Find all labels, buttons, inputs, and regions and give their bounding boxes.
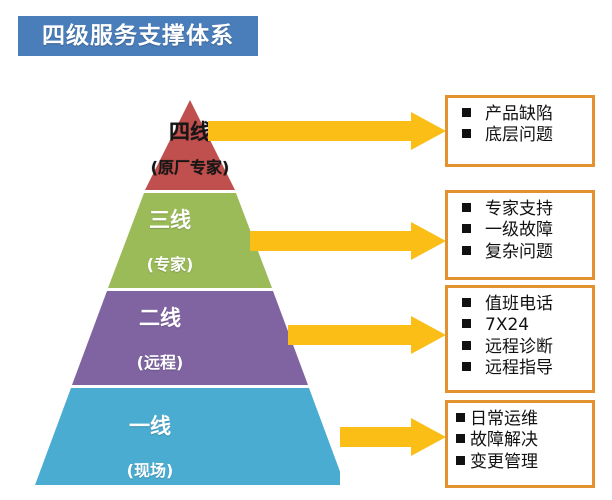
square-bullet-icon xyxy=(462,203,471,212)
arrow-tier-1-to-callout xyxy=(340,418,446,460)
callout-item-text: 产品缺陷 xyxy=(485,104,553,125)
square-bullet-icon xyxy=(462,108,471,117)
callout-box-tier-1[interactable]: 日常运维 故障解决 变更管理 xyxy=(445,400,595,488)
list-item: 值班电话 xyxy=(454,294,588,315)
list-item: 7X24 xyxy=(454,315,588,336)
callout-item-text: 专家支持 xyxy=(485,199,553,220)
callout-list-tier-1: 日常运维 故障解决 变更管理 xyxy=(454,409,588,473)
callout-item-text: 日常运维 xyxy=(470,409,538,430)
list-item: 产品缺陷 xyxy=(454,104,588,125)
pyramid-tier-3-shape[interactable] xyxy=(108,193,272,288)
list-item: 一级故障 xyxy=(454,220,588,241)
list-item: 底层问题 xyxy=(454,125,588,146)
callout-list-tier-3: 专家支持 一级故障 复杂问题 xyxy=(454,199,588,263)
list-item: 故障解决 xyxy=(454,430,588,451)
callout-item-text: 值班电话 xyxy=(485,294,553,315)
square-bullet-icon xyxy=(462,319,471,328)
square-bullet-icon xyxy=(462,129,471,138)
square-bullet-icon xyxy=(456,413,465,422)
page-title: 四级服务支撑体系 xyxy=(42,25,234,48)
list-item: 远程指导 xyxy=(454,358,588,379)
arrow-tier-3-to-callout xyxy=(250,222,446,264)
callout-box-tier-2[interactable]: 值班电话 7X24 远程诊断 远程指导 xyxy=(445,285,595,393)
arrow-tier-2-to-callout xyxy=(288,316,446,358)
list-item: 专家支持 xyxy=(454,199,588,220)
page-title-banner: 四级服务支撑体系 xyxy=(18,16,258,56)
square-bullet-icon xyxy=(462,298,471,307)
callout-item-text: 远程指导 xyxy=(485,358,553,379)
callout-item-text: 变更管理 xyxy=(470,452,538,473)
list-item: 变更管理 xyxy=(454,452,588,473)
callout-list-tier-2: 值班电话 7X24 远程诊断 远程指导 xyxy=(454,294,588,379)
list-item: 远程诊断 xyxy=(454,337,588,358)
callout-item-text: 复杂问题 xyxy=(485,242,553,263)
square-bullet-icon xyxy=(456,456,465,465)
pyramid-tier-1-shape[interactable] xyxy=(35,388,340,485)
callout-item-text: 7X24 xyxy=(485,315,529,336)
square-bullet-icon xyxy=(462,224,471,233)
square-bullet-icon xyxy=(462,341,471,350)
callout-item-text: 远程诊断 xyxy=(485,337,553,358)
list-item: 日常运维 xyxy=(454,409,588,430)
square-bullet-icon xyxy=(456,434,465,443)
square-bullet-icon xyxy=(462,362,471,371)
callout-list-tier-4: 产品缺陷 底层问题 xyxy=(454,104,588,147)
square-bullet-icon xyxy=(462,246,471,255)
callout-item-text: 底层问题 xyxy=(485,125,553,146)
arrow-tier-4-to-callout xyxy=(208,112,446,154)
callout-box-tier-3[interactable]: 专家支持 一级故障 复杂问题 xyxy=(445,190,595,280)
list-item: 复杂问题 xyxy=(454,242,588,263)
callout-item-text: 一级故障 xyxy=(485,220,553,241)
callout-item-text: 故障解决 xyxy=(470,430,538,451)
callout-box-tier-4[interactable]: 产品缺陷 底层问题 xyxy=(445,95,595,167)
pyramid-tier-2-shape[interactable] xyxy=(72,291,308,385)
